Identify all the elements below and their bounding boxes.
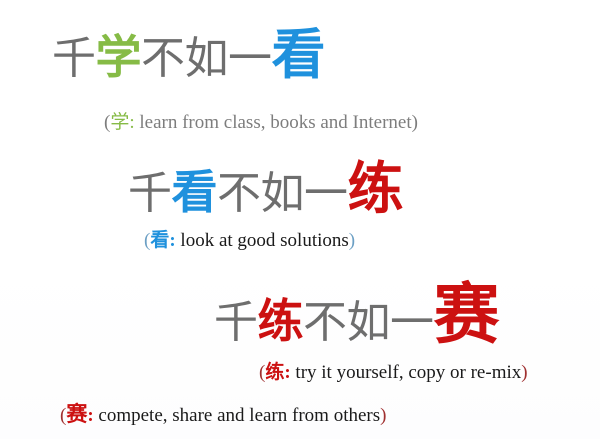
proverb-2-char-5: 一 xyxy=(304,172,348,216)
gloss-2-key-char: 看 xyxy=(150,229,169,251)
proverb-2-char-3: 不 xyxy=(217,172,261,216)
proverb-1-char-2-highlight: 学 xyxy=(96,34,142,80)
slide-canvas: 千学不如一看 (学: learn from class, books and I… xyxy=(0,0,600,439)
gloss-line-2: (看: look at good solutions) xyxy=(144,231,355,250)
proverb-1-char-1: 千 xyxy=(52,37,96,81)
gloss-3-body-text: try it yourself, copy or re-mix xyxy=(291,362,522,383)
proverb-2-char-1: 千 xyxy=(128,172,172,216)
gloss-1-key-char: 学 xyxy=(110,111,129,133)
proverb-3-char-5: 一 xyxy=(390,301,434,345)
proverb-3-char-6-highlight: 赛 xyxy=(434,282,500,348)
proverb-3-char-3: 不 xyxy=(303,301,347,345)
proverb-line-2: 千看不如一练 xyxy=(128,162,403,218)
gloss-4-body-text: compete, share and learn from others xyxy=(94,405,380,426)
gloss-1-close-paren: ) xyxy=(412,112,418,133)
gloss-4-key-char: 赛 xyxy=(66,402,87,426)
proverb-1-char-5: 一 xyxy=(228,37,272,81)
gloss-2-body-text: look at good solutions xyxy=(176,230,349,251)
proverb-2-char-4: 如 xyxy=(261,172,305,216)
proverb-2-char-2-highlight: 看 xyxy=(172,169,218,215)
proverb-line-1: 千学不如一看 xyxy=(52,28,325,82)
gloss-line-3: (练: try it yourself, copy or re-mix) xyxy=(259,363,528,382)
proverb-3-char-2-highlight: 练 xyxy=(258,298,304,344)
gloss-3-close-paren: ) xyxy=(521,362,527,383)
proverb-2-char-6-highlight: 练 xyxy=(348,162,404,218)
proverb-1-char-6-highlight: 看 xyxy=(272,28,326,82)
proverb-3-char-4: 如 xyxy=(347,301,391,345)
proverb-line-3: 千练不如一赛 xyxy=(214,282,499,348)
gloss-1-body-text: learn from class, books and Internet xyxy=(135,112,412,133)
gloss-3-key-char: 练 xyxy=(265,361,284,383)
proverb-1-char-4: 如 xyxy=(185,37,229,81)
gloss-4-close-paren: ) xyxy=(380,405,386,426)
gloss-2-close-paren: ) xyxy=(349,230,355,251)
gloss-line-1: (学: learn from class, books and Internet… xyxy=(104,113,418,132)
proverb-1-char-3: 不 xyxy=(141,37,185,81)
proverb-3-char-1: 千 xyxy=(214,301,258,345)
gloss-line-4: (赛: compete, share and learn from others… xyxy=(60,404,386,425)
